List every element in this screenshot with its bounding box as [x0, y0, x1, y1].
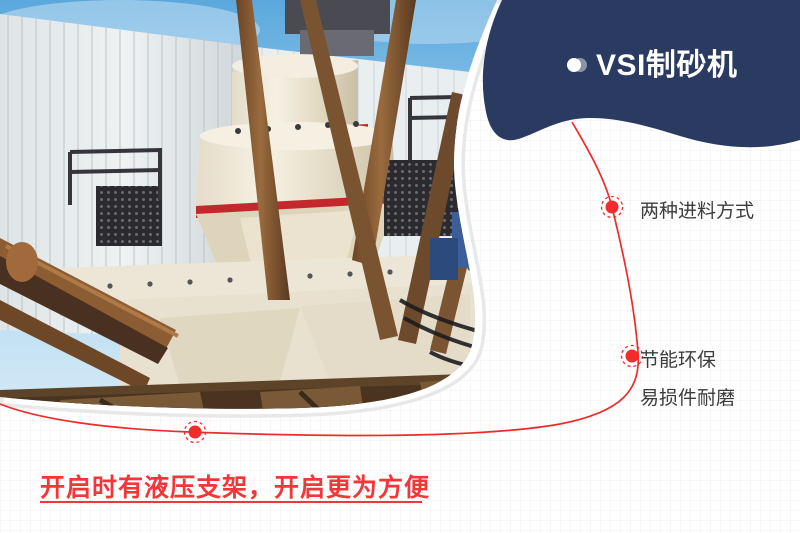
bottom-caption: 开启时有液压支架，开启更为方便 — [40, 468, 430, 504]
red-dot-marker-icon-1 — [599, 194, 625, 220]
page-title: VSI制砂机 — [596, 40, 737, 84]
caption-underline — [40, 501, 422, 503]
red-dot-marker-icon-3 — [182, 419, 208, 445]
feature-label-2: 节能环保 — [640, 345, 716, 372]
title-banner-shape — [430, 0, 800, 175]
double-circle-bullet-icon — [565, 57, 591, 73]
feature-label-1: 两种进料方式 — [640, 196, 754, 223]
feature-label-3: 易损件耐磨 — [640, 383, 735, 410]
product-feature-banner: VSI制砂机 两种进料方式 节能环保 易损件耐磨 开启时有液压支架，开启更为方便 — [0, 0, 800, 533]
